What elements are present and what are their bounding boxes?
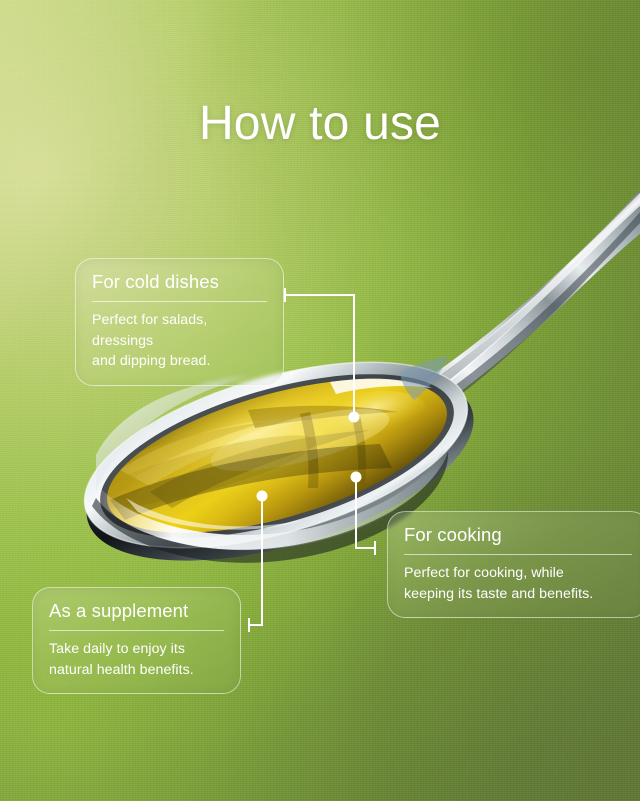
callout-card-cold-dishes: For cold dishes Perfect for salads, dres… xyxy=(75,258,284,386)
callout-body-supplement: Take daily to enjoy its natural health b… xyxy=(49,639,224,680)
poster-canvas: How to use For cold dishes Perfect for s… xyxy=(0,0,640,801)
callout-title-cold-dishes: For cold dishes xyxy=(92,270,267,293)
callout-title-cooking: For cooking xyxy=(404,523,632,546)
callout-card-cooking: For cooking Perfect for cooking, while k… xyxy=(387,511,640,618)
callout-divider xyxy=(92,301,267,302)
callout-divider xyxy=(404,554,632,555)
connector-line-supplement xyxy=(249,496,262,625)
connector-dot-supplement xyxy=(257,491,268,502)
connector-line-cold-dishes xyxy=(285,295,354,417)
connector-dot-cooking xyxy=(351,472,362,483)
callout-body-cooking: Perfect for cooking, while keeping its t… xyxy=(404,563,632,604)
callout-card-supplement: As a supplement Take daily to enjoy its … xyxy=(32,587,241,694)
callout-divider xyxy=(49,630,224,631)
connector-dot-cold-dishes xyxy=(349,412,360,423)
callout-title-supplement: As a supplement xyxy=(49,599,224,622)
connector-line-cooking xyxy=(356,477,375,548)
callout-body-cold-dishes: Perfect for salads, dressings and dippin… xyxy=(92,310,267,372)
